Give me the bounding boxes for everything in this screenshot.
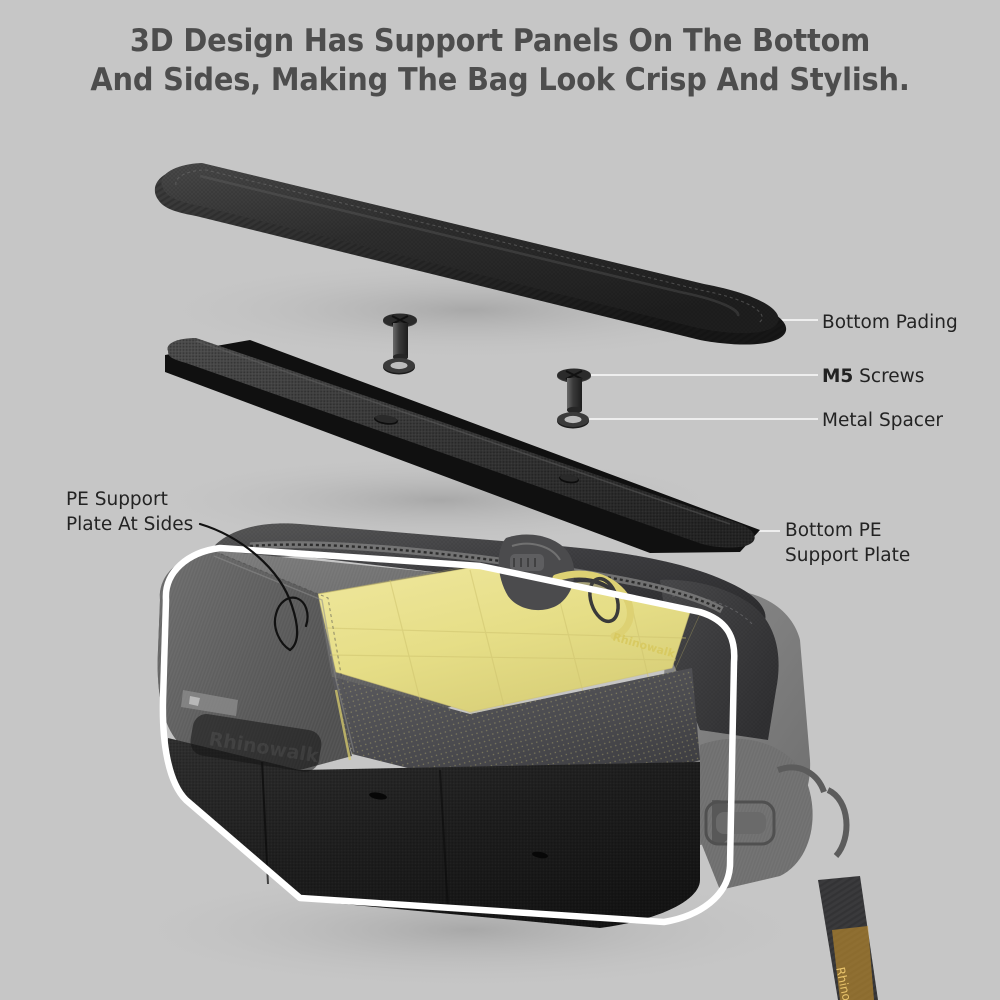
callout-bottom-pe-line1: Bottom PE xyxy=(785,518,910,543)
callout-pe-sides-line1: PE Support xyxy=(66,487,193,512)
part-metal-spacer-left xyxy=(383,358,415,375)
callout-metal-spacer-label: Metal Spacer xyxy=(822,410,943,431)
part-metal-spacer-right xyxy=(557,412,589,429)
callout-m5-rest: Screws xyxy=(853,366,924,387)
callout-m5-bold: M5 xyxy=(822,366,853,387)
callout-bottom-padding: Bottom Pading xyxy=(822,310,958,335)
callout-metal-spacer: Metal Spacer xyxy=(822,408,943,433)
callout-bottom-padding-label: Bottom Pading xyxy=(822,312,958,333)
callout-bottom-pe-plate: Bottom PE Support Plate xyxy=(785,518,910,568)
callout-m5-screws: M5 Screws xyxy=(822,364,924,389)
diagram-canvas: 3D Design Has Support Panels On The Bott… xyxy=(0,0,1000,1000)
part-m5-screw-right xyxy=(557,369,591,414)
callout-bottom-pe-line2: Support Plate xyxy=(785,543,910,568)
callout-pe-support-sides: PE Support Plate At Sides xyxy=(66,487,193,537)
callout-pe-sides-line2: Plate At Sides xyxy=(66,512,193,537)
